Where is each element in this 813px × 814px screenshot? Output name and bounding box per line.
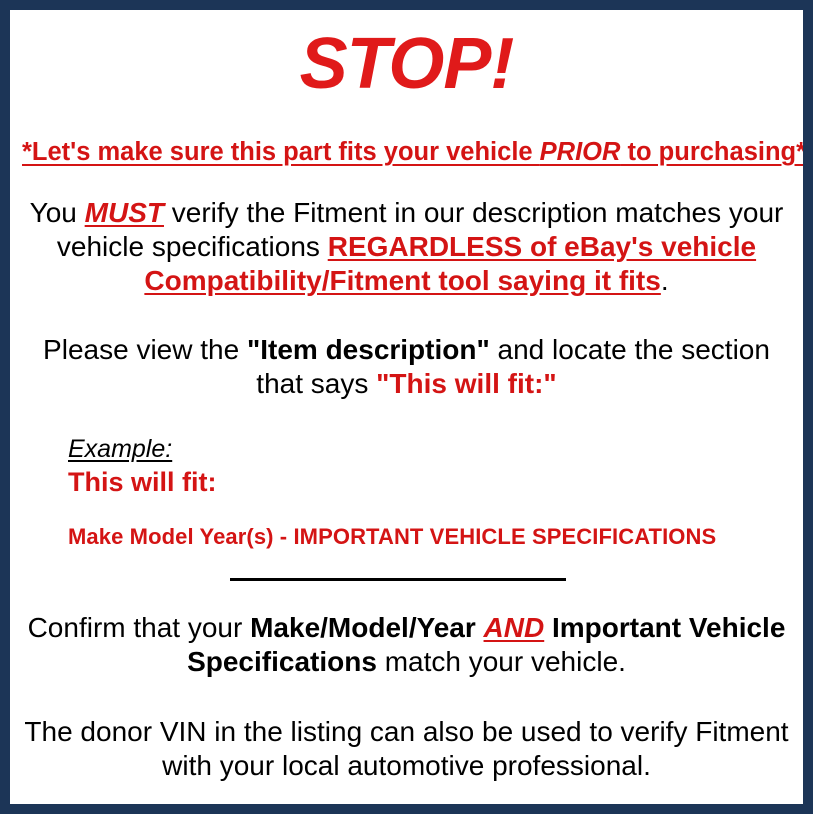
confirm-seg1: Confirm that your — [28, 612, 251, 643]
confirm-seg2: match your vehicle. — [377, 646, 626, 677]
thanks-message: Thank you for confirming Fitment! — [22, 810, 791, 814]
this-will-fit-emphasis: "This will fit:" — [376, 368, 557, 399]
notice-content: STOP! *Let's make sure this part fits yo… — [10, 10, 803, 804]
paragraph-view-description: Please view the "Item description" and l… — [22, 333, 791, 401]
example-spec-line: Make Model Year(s) - IMPORTANT VEHICLE S… — [68, 524, 791, 550]
item-description-emphasis: "Item description" — [247, 334, 490, 365]
and-emphasis: AND — [484, 612, 545, 643]
paragraph-must-verify: You MUST verify the Fitment in our descr… — [22, 196, 791, 298]
subtitle-banner: *Let's make sure this part fits your veh… — [22, 138, 791, 166]
divider-container — [22, 578, 791, 581]
example-will-fit-heading: This will fit: — [68, 466, 791, 498]
view-seg1: Please view the — [43, 334, 247, 365]
fitment-notice-card: STOP! *Let's make sure this part fits yo… — [0, 0, 813, 814]
must-seg1: You — [30, 197, 85, 228]
confirm-space-1 — [476, 612, 484, 643]
paragraph-confirm-match: Confirm that your Make/Model/Year AND Im… — [22, 611, 791, 679]
must-seg3: . — [661, 265, 669, 296]
subtitle-text-before: *Let's make sure this part fits your veh… — [22, 138, 540, 166]
example-block: Example: This will fit: Make Model Year(… — [22, 435, 791, 550]
must-emphasis: MUST — [85, 197, 164, 228]
example-label: Example: — [68, 435, 791, 464]
page-title: STOP! — [22, 28, 791, 100]
confirm-space-2 — [544, 612, 552, 643]
paragraph-donor-vin: The donor VIN in the listing can also be… — [22, 715, 791, 783]
subtitle-text-after: to purchasing* — [620, 138, 806, 166]
subtitle-emphasis-prior: PRIOR — [540, 138, 621, 166]
make-model-year-emphasis: Make/Model/Year — [250, 612, 476, 643]
section-divider — [230, 578, 566, 581]
